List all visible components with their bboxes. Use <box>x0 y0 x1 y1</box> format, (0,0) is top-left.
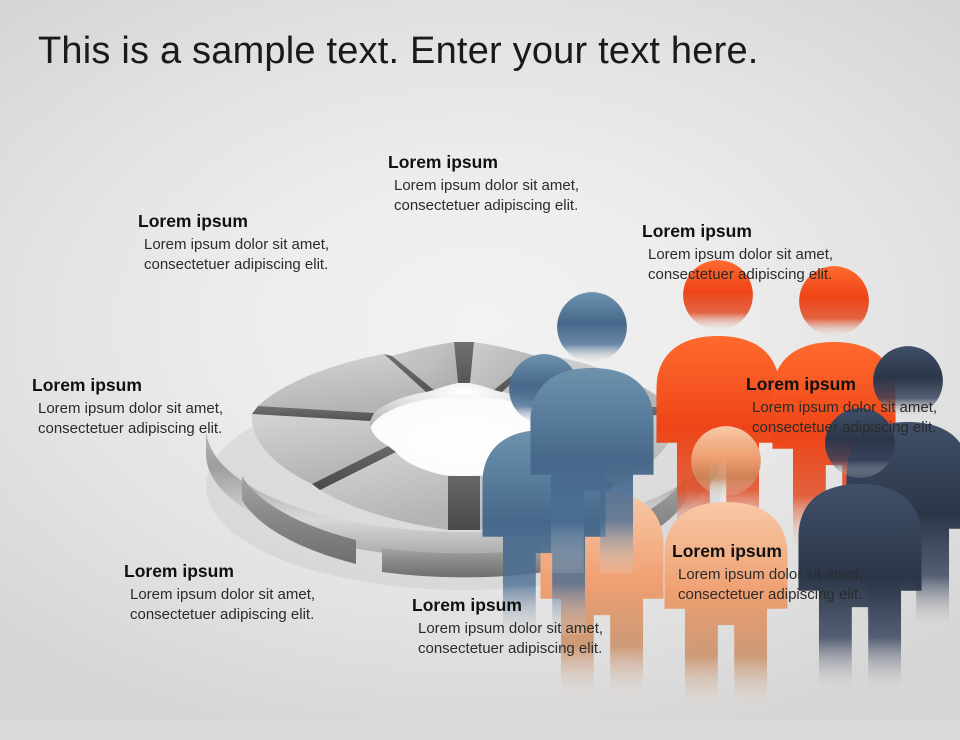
slide-canvas: This is a sample text. Enter your text h… <box>0 0 960 720</box>
callout-heading: Lorem ipsum <box>138 211 338 231</box>
callout-block-top-left[interactable]: Lorem ipsum Lorem ipsum dolor sit amet, … <box>138 211 338 274</box>
callout-heading: Lorem ipsum <box>672 541 872 561</box>
callout-heading: Lorem ipsum <box>642 221 842 241</box>
callout-body: Lorem ipsum dolor sit amet, consectetuer… <box>124 585 324 624</box>
page-title: This is a sample text. Enter your text h… <box>38 30 918 73</box>
callout-heading: Lorem ipsum <box>412 595 612 615</box>
callout-block-left[interactable]: Lorem ipsum Lorem ipsum dolor sit amet, … <box>32 375 232 438</box>
callout-heading: Lorem ipsum <box>124 561 324 581</box>
callout-body: Lorem ipsum dolor sit amet, consectetuer… <box>412 619 612 658</box>
callout-block-top-right[interactable]: Lorem ipsum Lorem ipsum dolor sit amet, … <box>642 221 842 284</box>
callout-block-right[interactable]: Lorem ipsum Lorem ipsum dolor sit amet, … <box>746 374 946 437</box>
callout-body: Lorem ipsum dolor sit amet, consectetuer… <box>746 398 946 437</box>
callout-heading: Lorem ipsum <box>746 374 946 394</box>
callout-body: Lorem ipsum dolor sit amet, consectetuer… <box>672 565 872 604</box>
callout-body: Lorem ipsum dolor sit amet, consectetuer… <box>138 235 338 274</box>
callout-block-top[interactable]: Lorem ipsum Lorem ipsum dolor sit amet, … <box>388 152 588 215</box>
callout-heading: Lorem ipsum <box>388 152 588 172</box>
callout-heading: Lorem ipsum <box>32 375 232 395</box>
callout-block-bottom-right[interactable]: Lorem ipsum Lorem ipsum dolor sit amet, … <box>672 541 872 604</box>
figure-left-lower-blue <box>264 348 310 426</box>
callout-block-bottom-left[interactable]: Lorem ipsum Lorem ipsum dolor sit amet, … <box>124 561 324 624</box>
callout-block-bottom[interactable]: Lorem ipsum Lorem ipsum dolor sit amet, … <box>412 595 612 658</box>
callout-body: Lorem ipsum dolor sit amet, consectetuer… <box>642 245 842 284</box>
callout-body: Lorem ipsum dolor sit amet, consectetuer… <box>388 176 588 215</box>
figure-left-upper-blue <box>312 286 358 364</box>
segmented-donut-diagram <box>196 268 756 588</box>
callout-body: Lorem ipsum dolor sit amet, consectetuer… <box>32 399 232 438</box>
